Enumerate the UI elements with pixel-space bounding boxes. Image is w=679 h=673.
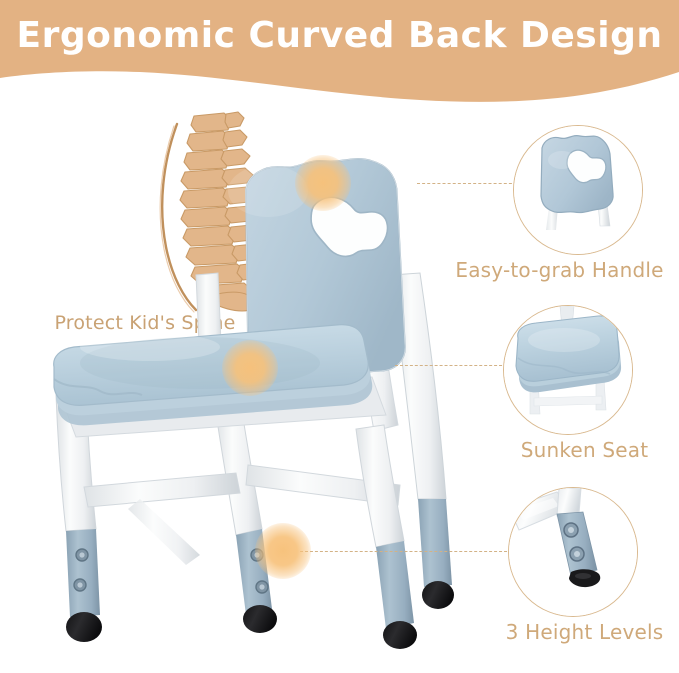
marker-dot-seat: [222, 340, 278, 396]
marker-dot-backrest: [295, 155, 351, 211]
header-banner: Ergonomic Curved Back Design: [0, 0, 679, 110]
page-title: Ergonomic Curved Back Design: [0, 14, 679, 58]
callout-label-handle: Easy-to-grab Handle: [440, 258, 679, 282]
connector-line-handle: [417, 183, 517, 184]
callout-label-height: 3 Height Levels: [490, 620, 679, 644]
chair-back-handle-closeup-icon: [514, 126, 642, 254]
connector-line-height: [300, 551, 512, 552]
callout-circle-seat: [503, 305, 633, 435]
marker-dot-leg: [255, 523, 311, 579]
callout-label-seat: Sunken Seat: [490, 438, 679, 462]
callout-circle-handle: [513, 125, 643, 255]
infographic-canvas: Ergonomic Curved Back Design: [0, 0, 679, 673]
callout-circle-height: [508, 487, 638, 617]
seat-closeup-icon: [504, 306, 632, 434]
connector-line-seat: [395, 365, 507, 366]
leg-adjust-closeup-icon: [509, 488, 637, 616]
